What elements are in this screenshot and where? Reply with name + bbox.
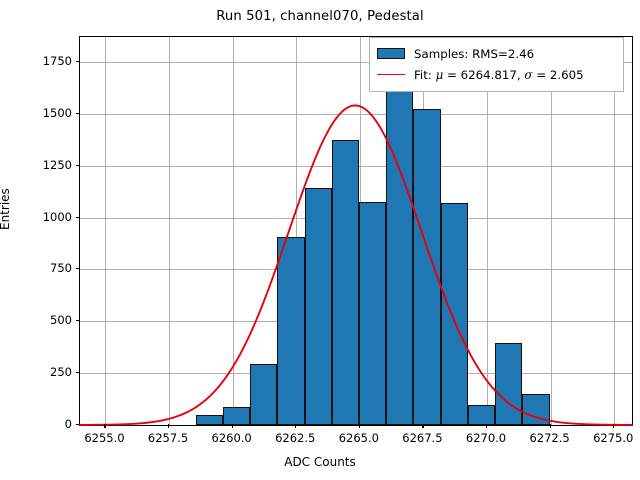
x-tick-label: 6272.5 bbox=[529, 431, 569, 445]
y-tick-mark bbox=[76, 217, 80, 218]
histogram-bar bbox=[250, 364, 277, 425]
chart-title: Run 501, channel070, Pedestal bbox=[0, 9, 640, 24]
y-tick-mark bbox=[76, 268, 80, 269]
histogram-bar bbox=[305, 188, 332, 425]
x-tick-label: 6270.0 bbox=[466, 431, 506, 445]
x-tick-label: 6275.0 bbox=[593, 431, 633, 445]
legend-patch-swatch-icon bbox=[377, 48, 405, 59]
histogram-bar bbox=[441, 203, 468, 425]
plot-area bbox=[79, 36, 633, 426]
histogram-bar bbox=[413, 109, 440, 425]
histogram-bar bbox=[468, 405, 495, 425]
y-tick-label: 1500 bbox=[1, 106, 72, 120]
histogram-bar bbox=[495, 343, 522, 425]
y-tick-label: 1750 bbox=[1, 54, 72, 68]
y-tick-label: 250 bbox=[1, 365, 72, 379]
x-tick-label: 6265.0 bbox=[339, 431, 379, 445]
x-tick-mark bbox=[550, 424, 551, 428]
y-tick-label: 1250 bbox=[1, 158, 72, 172]
x-tick-label: 6255.0 bbox=[84, 431, 124, 445]
x-tick-mark bbox=[232, 424, 233, 428]
figure-canvas: Run 501, channel070, Pedestal 0250500750… bbox=[0, 0, 640, 480]
histogram-bar bbox=[196, 415, 223, 425]
legend-sigma-value: = 2.605 bbox=[532, 68, 583, 82]
x-axis-label: ADC Counts bbox=[0, 455, 640, 469]
y-tick-label: 0 bbox=[1, 417, 72, 431]
y-tick-mark bbox=[76, 61, 80, 62]
y-tick-mark bbox=[76, 320, 80, 321]
x-tick-mark bbox=[359, 424, 360, 428]
x-tick-mark bbox=[104, 424, 105, 428]
histogram-bar bbox=[223, 407, 250, 425]
y-tick-mark bbox=[76, 372, 80, 373]
x-tick-label: 6267.5 bbox=[402, 431, 442, 445]
histogram-bar bbox=[332, 140, 359, 425]
x-tick-mark bbox=[613, 424, 614, 428]
y-tick-mark bbox=[76, 424, 80, 425]
histogram-bar bbox=[359, 202, 386, 425]
x-tick-mark bbox=[422, 424, 423, 428]
legend-label-samples: Samples: RMS=2.46 bbox=[414, 47, 534, 61]
histogram-bar bbox=[522, 394, 549, 425]
x-tick-mark bbox=[486, 424, 487, 428]
histogram-bars bbox=[80, 37, 632, 425]
legend-item-samples: Samples: RMS=2.46 bbox=[377, 43, 616, 64]
x-tick-label: 6257.5 bbox=[148, 431, 188, 445]
legend-line-swatch-icon bbox=[377, 74, 405, 75]
histogram-bar bbox=[277, 237, 304, 425]
legend-mu-value: = 6264.817, bbox=[443, 68, 524, 82]
x-tick-mark bbox=[168, 424, 169, 428]
legend-fit-prefix: Fit: bbox=[414, 68, 436, 82]
legend-item-fit: Fit: μ = 6264.817, σ = 2.605 bbox=[377, 64, 616, 85]
y-tick-mark bbox=[76, 165, 80, 166]
histogram-bar bbox=[386, 91, 413, 425]
y-tick-label: 500 bbox=[1, 313, 72, 327]
x-tick-label: 6262.5 bbox=[275, 431, 315, 445]
x-tick-label: 6260.0 bbox=[212, 431, 252, 445]
y-axis-label: Entries bbox=[0, 188, 12, 230]
chart-legend: Samples: RMS=2.46 Fit: μ = 6264.817, σ =… bbox=[369, 37, 624, 92]
y-tick-mark bbox=[76, 113, 80, 114]
legend-label-fit: Fit: μ = 6264.817, σ = 2.605 bbox=[414, 68, 584, 82]
y-tick-label: 750 bbox=[1, 261, 72, 275]
x-tick-mark bbox=[295, 424, 296, 428]
